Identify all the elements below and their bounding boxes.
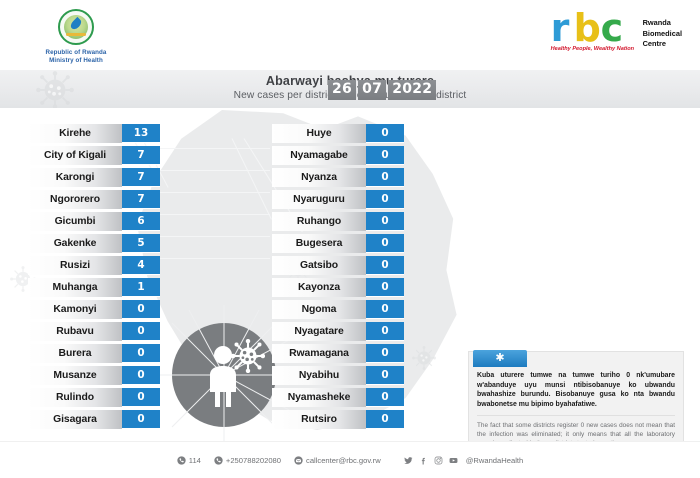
divider: [477, 415, 675, 416]
district-name: Rwamagana: [272, 344, 366, 363]
district-name: Ngororero: [28, 190, 122, 209]
district-name: Nyamasheke: [272, 388, 366, 407]
district-row[interactable]: Ngororero7: [28, 190, 160, 209]
disclaimer-english: The fact that some districts register 0 …: [477, 421, 675, 441]
rbc-name-line-1: Rwanda: [643, 18, 682, 29]
district-value: 5: [122, 234, 160, 253]
header-bar: Republic of Rwanda Ministry of Health r …: [0, 0, 700, 70]
district-name: Gakenke: [28, 234, 122, 253]
district-value: 0: [122, 410, 160, 429]
covid-district-report-infographic: Republic of Rwanda Ministry of Health r …: [0, 0, 700, 478]
district-value: 0: [122, 322, 160, 341]
district-name: Gisagara: [28, 410, 122, 429]
facebook-icon[interactable]: [419, 456, 428, 465]
social-links: @RwandaHealth: [404, 456, 524, 465]
title-band: Abarwayi bashya mu turere New cases per …: [0, 70, 700, 108]
district-row[interactable]: Kamonyi0: [28, 300, 160, 319]
phone-icon: [177, 456, 186, 465]
leader-line: [150, 236, 270, 237]
district-row[interactable]: Gakenke5: [28, 234, 160, 253]
rwanda-coat-of-arms-icon: [53, 8, 99, 48]
district-list-right: Huye0 Nyamagabe0 Nyanza0 Nyaruguru0 Ruha…: [272, 124, 404, 432]
district-value: 0: [366, 344, 404, 363]
district-row[interactable]: Huye0: [272, 124, 404, 143]
district-row[interactable]: Ngoma0: [272, 300, 404, 319]
district-row[interactable]: Bugesera0: [272, 234, 404, 253]
district-value: 0: [366, 278, 404, 297]
district-value: 13: [122, 124, 160, 143]
date-month: 07: [358, 80, 386, 100]
district-value: 7: [122, 146, 160, 165]
district-row[interactable]: Rubavu0: [28, 322, 160, 341]
footer-contact-bar: 114 +250788202080 callcenter@rbc.gov.rw: [0, 441, 700, 478]
district-row[interactable]: Karongi7: [28, 168, 160, 187]
district-value: 0: [366, 124, 404, 143]
district-value: 0: [122, 388, 160, 407]
footer-phone[interactable]: +250788202080: [214, 456, 281, 465]
footer-phone-short[interactable]: 114: [177, 456, 201, 465]
district-row[interactable]: Burera0: [28, 344, 160, 363]
district-value: 4: [122, 256, 160, 275]
district-row[interactable]: Rwamagana0: [272, 344, 404, 363]
rbc-letter-b: b: [574, 12, 600, 45]
district-name: Ngoma: [272, 300, 366, 319]
district-name: Nyaruguru: [272, 190, 366, 209]
district-value: 0: [366, 388, 404, 407]
youtube-icon[interactable]: [449, 456, 458, 465]
district-value: 0: [122, 300, 160, 319]
district-name: City of Kigali: [28, 146, 122, 165]
rbc-letter-r: r: [551, 12, 569, 45]
district-name: Gicumbi: [28, 212, 122, 231]
district-value: 7: [122, 190, 160, 209]
district-name: Nyabihu: [272, 366, 366, 385]
district-name: Kirehe: [28, 124, 122, 143]
district-value: 0: [366, 322, 404, 341]
district-value: 0: [366, 410, 404, 429]
rbc-name-block: Rwanda Biomedical Centre: [643, 18, 682, 50]
district-name: Karongi: [28, 168, 122, 187]
district-name: Huye: [272, 124, 366, 143]
rbc-logo: r b c Healthy People, Wealthy Nation Rwa…: [550, 12, 682, 56]
district-value: 6: [122, 212, 160, 231]
ministry-of-health-logo: Republic of Rwanda Ministry of Health: [42, 8, 110, 65]
email-icon: [294, 456, 303, 465]
district-row[interactable]: Ruhango0: [272, 212, 404, 231]
district-value: 0: [122, 366, 160, 385]
district-name: Rulindo: [28, 388, 122, 407]
person-with-virus-badge: [172, 323, 276, 427]
date-display: 26 07 2022: [328, 80, 436, 100]
district-value: 0: [122, 344, 160, 363]
district-value: 0: [366, 300, 404, 319]
coronavirus-icon: [231, 339, 265, 373]
district-name: Gatsibo: [272, 256, 366, 275]
rbc-letter-c: c: [601, 12, 623, 45]
district-name: Kamonyi: [28, 300, 122, 319]
rbc-tagline: Healthy People, Wealthy Nation: [551, 46, 635, 52]
rbc-name-line-3: Centre: [643, 39, 682, 50]
district-name: Kayonza: [272, 278, 366, 297]
district-row[interactable]: Nyanza0: [272, 168, 404, 187]
district-value: 0: [366, 212, 404, 231]
district-row[interactable]: Kayonza0: [272, 278, 404, 297]
instagram-icon[interactable]: [434, 456, 443, 465]
district-value: 7: [122, 168, 160, 187]
district-row[interactable]: Rulindo0: [28, 388, 160, 407]
disclaimer-box: ✱ Kuba uturere tumwe na tumwe turiho 0 n…: [468, 351, 684, 441]
district-value: 0: [366, 234, 404, 253]
district-name: Musanze: [28, 366, 122, 385]
rbc-name-line-2: Biomedical: [643, 29, 682, 40]
moh-line-1: Republic of Rwanda: [42, 49, 110, 57]
district-row[interactable]: Rusizi4: [28, 256, 160, 275]
moh-line-2: Ministry of Health: [42, 57, 110, 65]
date-year: 2022: [388, 80, 436, 100]
district-name: Nyagatare: [272, 322, 366, 341]
district-row[interactable]: Muhanga1: [28, 278, 160, 297]
leader-line: [150, 214, 270, 215]
district-row[interactable]: Nyagatare0: [272, 322, 404, 341]
district-row[interactable]: Nyamagabe0: [272, 146, 404, 165]
leader-line: [150, 148, 270, 149]
district-value: 0: [366, 168, 404, 187]
district-value: 0: [366, 366, 404, 385]
rbc-wordmark-icon: r b c Healthy People, Wealthy Nation: [550, 12, 636, 56]
twitter-icon[interactable]: [404, 456, 413, 465]
district-row[interactable]: Gatsibo0: [272, 256, 404, 275]
district-row[interactable]: City of Kigali7: [28, 146, 160, 165]
leader-line: [150, 192, 270, 193]
district-name: Nyanza: [272, 168, 366, 187]
district-row[interactable]: Gisagara0: [28, 410, 160, 429]
district-value: 1: [122, 278, 160, 297]
footer-phone-text: +250788202080: [226, 456, 281, 465]
district-value: 0: [366, 190, 404, 209]
district-list-left: Kirehe13 City of Kigali7 Karongi7 Ngoror…: [28, 124, 160, 432]
district-row[interactable]: Nyabihu0: [272, 366, 404, 385]
district-name: Rubavu: [28, 322, 122, 341]
district-row[interactable]: Gicumbi6: [28, 212, 160, 231]
district-name: Muhanga: [28, 278, 122, 297]
leader-line: [150, 170, 270, 171]
coronavirus-icon: [412, 346, 436, 370]
district-row[interactable]: Musanze0: [28, 366, 160, 385]
district-row[interactable]: Nyaruguru0: [272, 190, 404, 209]
main-content: Kirehe13 City of Kigali7 Karongi7 Ngoror…: [0, 108, 700, 441]
disclaimer-kinyarwanda: Kuba uturere tumwe na tumwe turiho 0 nk'…: [477, 371, 675, 409]
phone-icon: [214, 456, 223, 465]
footer-email[interactable]: callcenter@rbc.gov.rw: [294, 456, 381, 465]
footer-email-text: callcenter@rbc.gov.rw: [306, 456, 381, 465]
district-row[interactable]: Rutsiro0: [272, 410, 404, 429]
district-name: Ruhango: [272, 212, 366, 231]
district-name: Bugesera: [272, 234, 366, 253]
district-value: 0: [366, 256, 404, 275]
district-name: Nyamagabe: [272, 146, 366, 165]
district-name: Rutsiro: [272, 410, 366, 429]
district-row[interactable]: Nyamasheke0: [272, 388, 404, 407]
footer-phone-short-text: 114: [189, 456, 201, 465]
date-day: 26: [328, 80, 356, 100]
asterisk-icon: ✱: [473, 350, 527, 367]
district-value: 0: [366, 146, 404, 165]
district-row[interactable]: Kirehe13: [28, 124, 160, 143]
footer-social-handle: @RwandaHealth: [466, 456, 524, 465]
leader-line: [160, 258, 270, 259]
district-name: Burera: [28, 344, 122, 363]
district-name: Rusizi: [28, 256, 122, 275]
